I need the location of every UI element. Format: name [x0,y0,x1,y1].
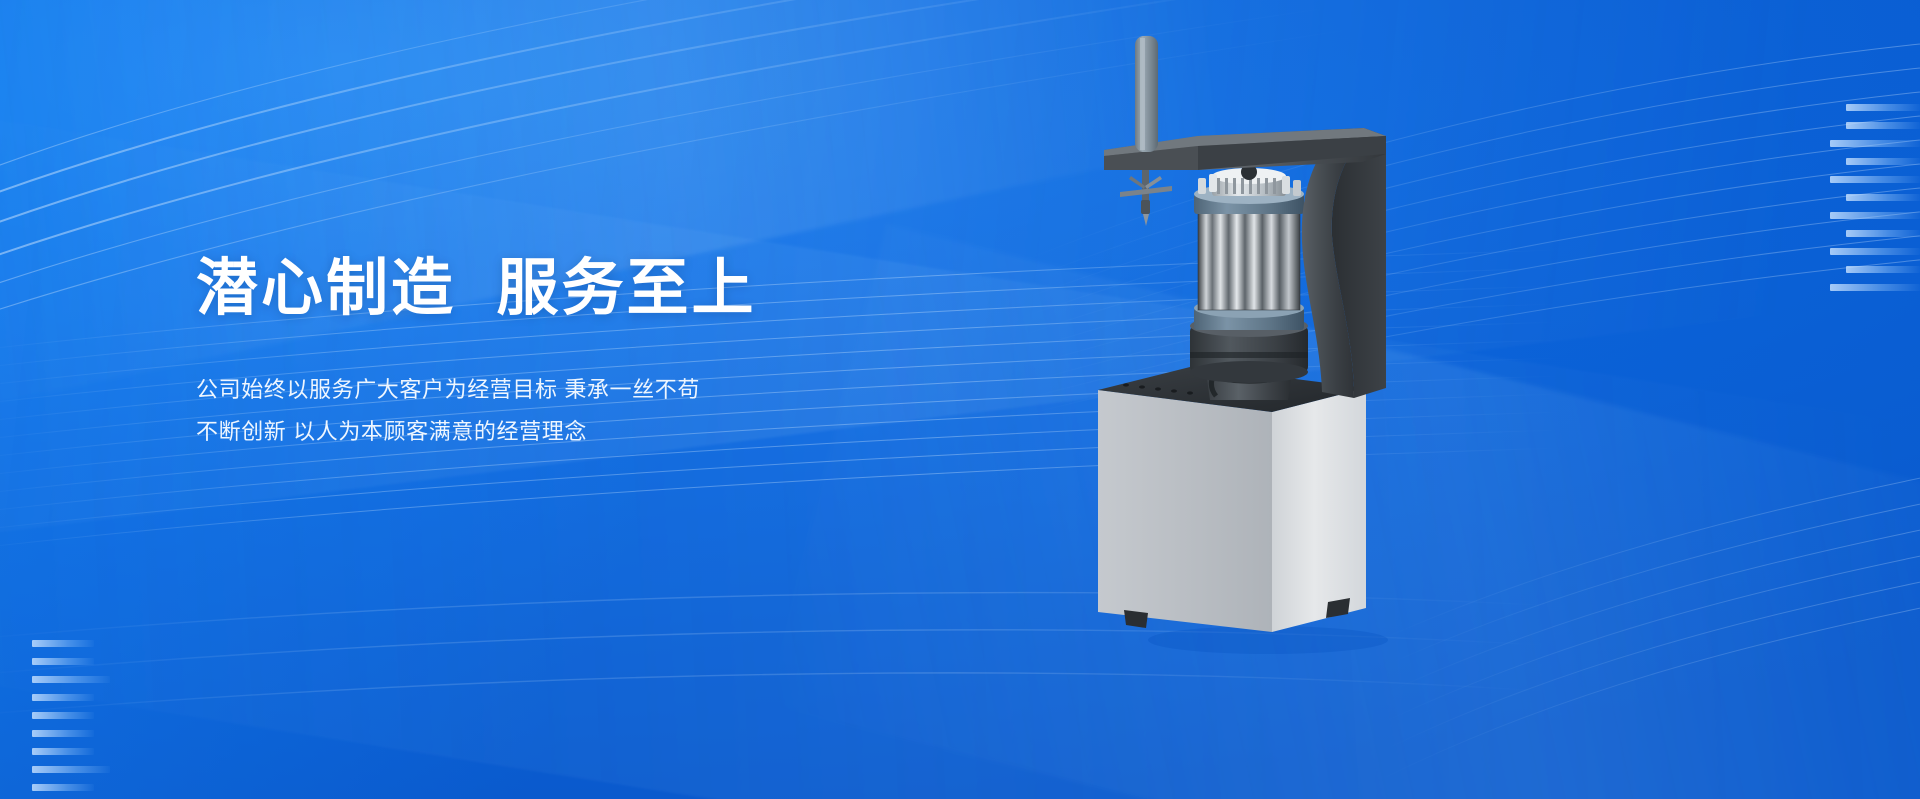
tick-mark [1830,212,1920,219]
cabinet-base [1098,366,1366,632]
hero-copy-block: 潜心制造 服务至上 公司始终以服务广大客户为经营目标 秉承一丝不苟 不断创新 以… [196,252,896,453]
mast-rod [1135,36,1158,152]
tick-mark [32,730,94,737]
hero-subtitle-line-1: 公司始终以服务广大客户为经营目标 秉承一丝不苟 [196,369,896,411]
hero-subtitle: 公司始终以服务广大客户为经营目标 秉承一丝不苟 不断创新 以人为本顾客满意的经营… [196,369,896,453]
tick-mark [32,748,94,755]
tick-mark [1830,248,1920,255]
column-support [1302,128,1386,398]
cabinet-foot [1124,610,1148,628]
decorative-tick-marks-left [32,640,142,791]
tick-mark [1846,194,1920,201]
hero-subtitle-line-2: 不断创新 以人为本顾客满意的经营理念 [196,411,896,453]
tick-mark [1846,158,1920,165]
tick-mark [32,712,94,719]
tool-spindle [1120,170,1172,226]
tick-mark [1846,266,1920,273]
tick-mark [1846,122,1920,129]
product-image-vertical-press-machine [1086,36,1506,676]
spindle-tip [1143,214,1149,226]
tick-mark [1846,230,1920,237]
tick-mark [32,658,94,665]
tick-mark [32,694,94,701]
filter-cartridge-assembly [1198,212,1300,310]
hero-headline: 潜心制造 服务至上 [196,252,896,325]
tick-mark [1830,140,1920,147]
tick-mark [1846,104,1920,111]
tick-mark [32,766,110,773]
tick-mark [32,676,110,683]
tick-mark [32,784,94,791]
tick-mark [32,640,94,647]
tick-mark [1830,176,1920,183]
decorative-tick-marks-right [1808,104,1920,291]
hero-banner: 潜心制造 服务至上 公司始终以服务广大客户为经营目标 秉承一丝不苟 不断创新 以… [0,0,1920,799]
tick-mark [1830,284,1920,291]
